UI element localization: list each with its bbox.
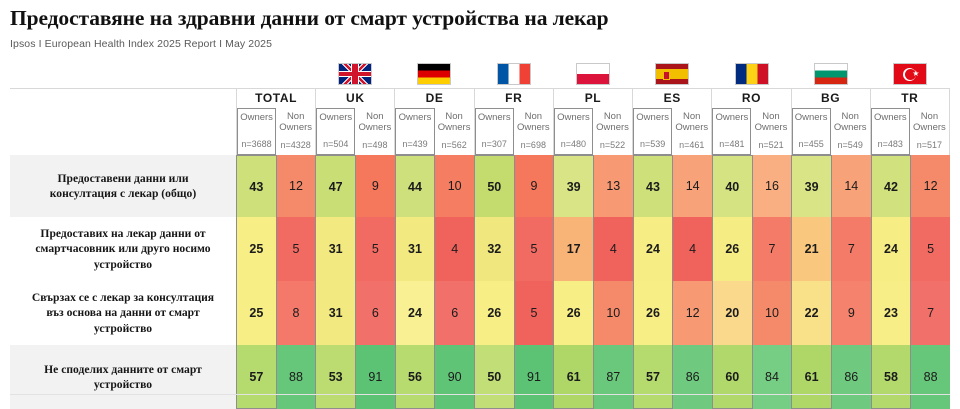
cell-value: 7 — [832, 217, 871, 281]
table-bottom-divider — [10, 394, 950, 395]
country-code-label: ES — [633, 89, 711, 108]
subheader-box: Ownersn=455 — [792, 108, 831, 155]
sample-size-label: n=4328 — [281, 140, 311, 151]
table-cell-owners: 39 — [553, 155, 594, 217]
table-cell-owners: 32 — [474, 217, 515, 281]
table-cell-owners: 17 — [553, 217, 594, 281]
cell-value: 5 — [911, 217, 950, 281]
cell-value: 91 — [356, 345, 395, 409]
cell-value: 86 — [832, 345, 871, 409]
table-cell-owners: 24 — [633, 217, 674, 281]
data-row-3: Свързах се с лекар за консултация въз ос… — [10, 281, 950, 345]
data-col-fr: 509 — [474, 155, 553, 217]
table-cell-non-owners: 12 — [277, 155, 316, 217]
sample-size-label: n=562 — [441, 140, 466, 151]
cell-value: 13 — [594, 155, 633, 217]
data-col-es: 5786 — [633, 345, 712, 409]
cell-value: 39 — [554, 156, 593, 217]
sample-size-label: n=483 — [878, 139, 903, 150]
non-owners-label: Non Owners — [596, 111, 629, 133]
table-cell-non-owners: 14 — [673, 155, 712, 217]
data-col-tr: 4212 — [871, 155, 950, 217]
table-cell-non-owners: 8 — [277, 281, 316, 345]
subheader-box: Non Ownersn=698 — [514, 108, 553, 155]
subheader-col-pl: Ownersn=480Non Ownersn=522 — [553, 108, 632, 155]
table-cell-non-owners: 7 — [753, 217, 792, 281]
table-cell-non-owners: 7 — [832, 217, 871, 281]
table-cell-non-owners: 9 — [515, 155, 554, 217]
subheader-col-es: Ownersn=539Non Ownersn=461 — [632, 108, 711, 155]
tr-flag: ★ — [893, 63, 927, 85]
owners-label: Owners — [636, 112, 669, 123]
flag-wrapper — [633, 58, 712, 88]
subheader-half-owners: Ownersn=483 — [871, 108, 910, 155]
ownership-subheader-cells: Ownersn=3688Non Ownersn=4328Ownersn=504N… — [236, 108, 950, 155]
sample-size-label: n=307 — [482, 139, 507, 150]
data-col-ro: 6084 — [712, 345, 791, 409]
table-cell-non-owners: 12 — [911, 155, 950, 217]
country-code-col-es: ES — [632, 89, 711, 108]
subheader-half-owners: Ownersn=539 — [633, 108, 672, 155]
subheader-half-non-owners: Non Ownersn=562 — [435, 108, 474, 155]
table-cell-non-owners: 9 — [832, 281, 871, 345]
table-cell-non-owners: 86 — [832, 345, 871, 409]
owners-label: Owners — [319, 112, 352, 123]
cell-value: 61 — [554, 345, 593, 408]
subheader-col-fr: Ownersn=307Non Ownersn=698 — [474, 108, 553, 155]
cell-value: 12 — [673, 281, 712, 345]
cell-value: 90 — [435, 345, 474, 409]
table-cell-owners: 60 — [712, 345, 753, 409]
table-cell-non-owners: 4 — [594, 217, 633, 281]
country-code-label: TR — [871, 89, 949, 108]
sample-size-label: n=549 — [838, 140, 863, 151]
table-cell-non-owners: 84 — [753, 345, 792, 409]
cell-value: 44 — [396, 156, 435, 217]
subheader-box: Ownersn=480 — [554, 108, 593, 155]
country-code-col-total: TOTAL — [236, 89, 315, 108]
table-cell-owners: 31 — [315, 217, 356, 281]
subheader-box: Non Ownersn=549 — [831, 108, 870, 155]
data-col-de: 314 — [395, 217, 474, 281]
cell-value: 12 — [277, 155, 316, 217]
subheader-box: Ownersn=539 — [633, 108, 672, 155]
country-code-label: DE — [395, 89, 473, 108]
owners-label: Owners — [795, 112, 828, 123]
row-label-4: Не споделих данните от смарт устройство — [10, 345, 236, 409]
table-cell-non-owners: 9 — [356, 155, 395, 217]
data-cells-row-2: 255315314325174244267217245 — [236, 217, 950, 281]
table-cell-owners: 25 — [236, 281, 277, 345]
row-label-3: Свързах се с лекар за консултация въз ос… — [10, 281, 236, 345]
cell-value: 42 — [872, 156, 911, 217]
ownership-subheader-row: Ownersn=3688Non Ownersn=4328Ownersn=504N… — [10, 108, 950, 155]
cell-value: 6 — [356, 281, 395, 345]
cell-value: 57 — [237, 345, 276, 408]
flag-col-ro — [712, 58, 791, 88]
owners-label: Owners — [399, 112, 432, 123]
cell-value: 4 — [673, 217, 712, 281]
cell-value: 17 — [554, 217, 593, 281]
cell-value: 24 — [634, 217, 673, 281]
sample-size-label: n=455 — [798, 139, 823, 150]
table-cell-owners: 61 — [791, 345, 832, 409]
data-col-ro: 267 — [712, 217, 791, 281]
flag-row: ★ — [10, 58, 950, 88]
cell-value: 84 — [753, 345, 792, 409]
subheader-box: Ownersn=481 — [712, 108, 751, 155]
subheader-box: Non Ownersn=562 — [435, 108, 474, 155]
data-col-fr: 265 — [474, 281, 553, 345]
sample-size-label: n=461 — [679, 140, 704, 151]
table-cell-owners: 50 — [474, 345, 515, 409]
subheader-half-non-owners: Non Ownersn=522 — [593, 108, 632, 155]
cell-value: 26 — [554, 281, 593, 345]
data-col-bg: 217 — [791, 217, 870, 281]
subheader-col-ro: Ownersn=481Non Ownersn=521 — [711, 108, 790, 155]
non-owners-label: Non Owners — [755, 111, 788, 133]
table-cell-owners: 26 — [474, 281, 515, 345]
subheader-col-bg: Ownersn=455Non Ownersn=549 — [791, 108, 870, 155]
data-col-ro: 4016 — [712, 155, 791, 217]
cell-value: 7 — [753, 217, 792, 281]
subheader-half-non-owners: Non Ownersn=517 — [910, 108, 949, 155]
cell-value: 88 — [911, 345, 950, 409]
subheader-half-non-owners: Non Ownersn=4328 — [276, 108, 315, 155]
subheader-box: Ownersn=504 — [316, 108, 355, 155]
owners-label: Owners — [240, 112, 273, 123]
data-col-ro: 2010 — [712, 281, 791, 345]
cell-value: 31 — [316, 281, 355, 345]
page-subtitle: Ipsos I European Health Index 2025 Repor… — [10, 38, 272, 50]
cell-value: 87 — [594, 345, 633, 409]
sample-size-label: n=698 — [521, 140, 546, 151]
table-cell-non-owners: 14 — [832, 155, 871, 217]
subheader-box: Non Ownersn=517 — [910, 108, 949, 155]
cell-value: 7 — [911, 281, 950, 345]
bg-flag — [814, 63, 848, 85]
cell-value: 14 — [673, 155, 712, 217]
data-col-pl: 6187 — [553, 345, 632, 409]
cell-value: 31 — [396, 217, 435, 281]
data-col-pl: 2610 — [553, 281, 632, 345]
data-cells-row-3: 258316246265261026122010229237 — [236, 281, 950, 345]
table-cell-owners: 25 — [236, 217, 277, 281]
sample-size-label: n=521 — [758, 140, 783, 151]
owners-label: Owners — [478, 112, 511, 123]
country-code-label: UK — [316, 89, 394, 108]
data-col-es: 2612 — [633, 281, 712, 345]
sample-size-label: n=522 — [600, 140, 625, 151]
cell-value: 22 — [792, 281, 831, 345]
country-code-col-tr: TR — [870, 89, 950, 108]
cell-value: 25 — [237, 217, 276, 281]
cell-value: 24 — [872, 217, 911, 281]
subheader-col-uk: Ownersn=504Non Ownersn=498 — [315, 108, 394, 155]
data-col-de: 5690 — [395, 345, 474, 409]
table-cell-owners: 44 — [395, 155, 436, 217]
flag-col-fr — [474, 58, 553, 88]
table-cell-owners: 24 — [395, 281, 436, 345]
country-code-col-pl: PL — [553, 89, 632, 108]
cell-value: 50 — [475, 345, 514, 408]
flag-cells: ★ — [236, 58, 950, 88]
data-cells-row-1: 4312479441050939134314401639144212 — [236, 155, 950, 217]
subheader-box: Non Ownersn=4328 — [276, 108, 315, 155]
cell-value: 24 — [396, 281, 435, 345]
owners-label: Owners — [716, 112, 749, 123]
page-title: Предоставяне на здравни данни от смарт у… — [10, 6, 609, 31]
cell-value: 43 — [237, 156, 276, 217]
non-owners-label: Non Owners — [834, 111, 867, 133]
table-cell-owners: 53 — [315, 345, 356, 409]
data-col-bg: 3914 — [791, 155, 870, 217]
table-cell-non-owners: 10 — [753, 281, 792, 345]
data-col-uk: 479 — [315, 155, 394, 217]
table-cell-non-owners: 88 — [277, 345, 316, 409]
cell-value: 40 — [713, 156, 752, 217]
flag-wrapper: ★ — [871, 58, 950, 88]
subheader-col-de: Ownersn=439Non Ownersn=562 — [394, 108, 473, 155]
cell-value: 25 — [237, 281, 276, 345]
data-cells-row-4: 578853915690509161875786608461865888 — [236, 345, 950, 409]
fr-flag — [497, 63, 531, 85]
country-code-col-de: DE — [394, 89, 473, 108]
country-code-label: TOTAL — [237, 89, 315, 108]
cell-value: 50 — [475, 156, 514, 217]
data-col-fr: 5091 — [474, 345, 553, 409]
cell-value: 9 — [515, 155, 554, 217]
cell-value: 4 — [435, 217, 474, 281]
cell-value: 32 — [475, 217, 514, 281]
uk-flag — [338, 63, 372, 85]
flag-col-pl — [553, 58, 632, 88]
non-owners-label: Non Owners — [675, 111, 708, 133]
table-cell-owners: 42 — [871, 155, 912, 217]
cell-value: 26 — [634, 281, 673, 345]
sample-size-label: n=539 — [640, 139, 665, 150]
table-cell-non-owners: 91 — [356, 345, 395, 409]
table-cell-non-owners: 90 — [435, 345, 474, 409]
subheader-half-owners: Ownersn=504 — [316, 108, 355, 155]
subheader-box: Non Ownersn=461 — [672, 108, 711, 155]
table-cell-owners: 39 — [791, 155, 832, 217]
cell-value: 53 — [316, 345, 355, 408]
cell-value: 88 — [277, 345, 316, 409]
data-col-total: 258 — [236, 281, 315, 345]
table-cell-owners: 24 — [871, 217, 912, 281]
table-cell-owners: 57 — [633, 345, 674, 409]
table-cell-owners: 20 — [712, 281, 753, 345]
cell-value: 6 — [435, 281, 474, 345]
subheader-box: Non Ownersn=521 — [751, 108, 790, 155]
flag-col-es — [633, 58, 712, 88]
data-col-total: 255 — [236, 217, 315, 281]
table-cell-owners: 61 — [553, 345, 594, 409]
table-cell-owners: 56 — [395, 345, 436, 409]
sample-size-label: n=504 — [323, 139, 348, 150]
table-cell-non-owners: 5 — [515, 217, 554, 281]
cell-value: 5 — [356, 217, 395, 281]
no-flag-placeholder — [259, 63, 293, 85]
table-cell-non-owners: 4 — [435, 217, 474, 281]
es-flag — [655, 63, 689, 85]
flag-col-bg — [791, 58, 870, 88]
table-cell-non-owners: 16 — [753, 155, 792, 217]
subheader-half-owners: Ownersn=455 — [792, 108, 831, 155]
cell-value: 12 — [911, 155, 950, 217]
cell-value: 21 — [792, 217, 831, 281]
subheader-half-non-owners: Non Ownersn=549 — [831, 108, 870, 155]
cell-value: 56 — [396, 345, 435, 408]
table-cell-non-owners: 4 — [673, 217, 712, 281]
cell-value: 86 — [673, 345, 712, 409]
data-col-tr: 5888 — [871, 345, 950, 409]
data-col-uk: 316 — [315, 281, 394, 345]
data-col-es: 244 — [633, 217, 712, 281]
table-cell-owners: 31 — [315, 281, 356, 345]
country-code-row: TOTALUKDEFRPLESROBGTR — [10, 88, 950, 108]
subheader-col-total: Ownersn=3688Non Ownersn=4328 — [236, 108, 315, 155]
table-cell-non-owners: 7 — [911, 281, 950, 345]
flag-col-total — [236, 58, 315, 88]
country-code-col-uk: UK — [315, 89, 394, 108]
cell-value: 39 — [792, 156, 831, 217]
country-code-col-fr: FR — [474, 89, 553, 108]
subheader-box: Ownersn=3688 — [237, 108, 276, 155]
table-cell-non-owners: 5 — [356, 217, 395, 281]
non-owners-label: Non Owners — [279, 111, 312, 133]
cell-value: 60 — [713, 345, 752, 408]
subheader-box: Ownersn=483 — [871, 108, 910, 155]
table-cell-owners: 23 — [871, 281, 912, 345]
subheader-half-non-owners: Non Ownersn=521 — [751, 108, 790, 155]
table-cell-owners: 43 — [633, 155, 674, 217]
data-col-es: 4314 — [633, 155, 712, 217]
table-cell-non-owners: 10 — [594, 281, 633, 345]
data-row-4: Не споделих данните от смарт устройство … — [10, 345, 950, 409]
subheader-box: Non Ownersn=522 — [593, 108, 632, 155]
subheader-half-non-owners: Non Ownersn=698 — [514, 108, 553, 155]
cell-value: 8 — [277, 281, 316, 345]
table-cell-owners: 43 — [236, 155, 277, 217]
subheader-half-owners: Ownersn=480 — [554, 108, 593, 155]
flag-wrapper — [791, 58, 870, 88]
table-cell-non-owners: 87 — [594, 345, 633, 409]
country-code-label: BG — [792, 89, 870, 108]
table-cell-non-owners: 88 — [911, 345, 950, 409]
row-label-1: Предоставени данни или консултация с лек… — [10, 155, 236, 217]
flag-wrapper — [553, 58, 632, 88]
country-code-cells: TOTALUKDEFRPLESROBGTR — [236, 89, 950, 108]
subheader-row-spacer — [10, 108, 236, 155]
cell-value: 91 — [515, 345, 554, 409]
table-cell-non-owners: 13 — [594, 155, 633, 217]
flag-row-spacer — [10, 58, 236, 88]
table-cell-owners: 26 — [712, 217, 753, 281]
table-cell-owners: 47 — [315, 155, 356, 217]
cell-value: 16 — [753, 155, 792, 217]
non-owners-label: Non Owners — [438, 111, 471, 133]
flag-wrapper — [236, 58, 315, 88]
cell-value: 9 — [356, 155, 395, 217]
code-row-spacer — [10, 89, 236, 108]
subheader-half-non-owners: Non Ownersn=461 — [672, 108, 711, 155]
cell-value: 20 — [713, 281, 752, 345]
table-cell-non-owners: 5 — [277, 217, 316, 281]
ro-flag — [735, 63, 769, 85]
country-code-label: PL — [554, 89, 632, 108]
cell-value: 9 — [832, 281, 871, 345]
subheader-box: Ownersn=439 — [395, 108, 434, 155]
flag-wrapper — [712, 58, 791, 88]
table-cell-owners: 58 — [871, 345, 912, 409]
table-cell-owners: 26 — [553, 281, 594, 345]
table-cell-owners: 50 — [474, 155, 515, 217]
data-row-1: Предоставени данни или консултация с лек… — [10, 155, 950, 217]
data-col-de: 4410 — [395, 155, 474, 217]
subheader-half-non-owners: Non Ownersn=498 — [355, 108, 394, 155]
cell-value: 61 — [792, 345, 831, 408]
data-col-pl: 174 — [553, 217, 632, 281]
table-cell-non-owners: 86 — [673, 345, 712, 409]
sample-size-label: n=481 — [719, 139, 744, 150]
cell-value: 23 — [872, 281, 911, 345]
owners-label: Owners — [874, 112, 907, 123]
cell-value: 26 — [475, 281, 514, 345]
data-col-uk: 5391 — [315, 345, 394, 409]
health-data-table: ★ TOTALUKDEFRPLESROBGTR Ownersn=3688Non … — [10, 58, 950, 394]
table-cell-owners: 21 — [791, 217, 832, 281]
data-col-pl: 3913 — [553, 155, 632, 217]
table-cell-owners: 57 — [236, 345, 277, 409]
cell-value: 43 — [634, 156, 673, 217]
data-col-bg: 229 — [791, 281, 870, 345]
data-col-uk: 315 — [315, 217, 394, 281]
subheader-box: Non Ownersn=498 — [355, 108, 394, 155]
subheader-half-owners: Ownersn=307 — [475, 108, 514, 155]
cell-value: 47 — [316, 156, 355, 217]
cell-value: 10 — [435, 155, 474, 217]
table-cell-non-owners: 6 — [435, 281, 474, 345]
data-col-de: 246 — [395, 281, 474, 345]
table-cell-owners: 22 — [791, 281, 832, 345]
sample-size-label: n=498 — [362, 140, 387, 151]
table-cell-owners: 26 — [633, 281, 674, 345]
flag-wrapper — [474, 58, 553, 88]
cell-value: 10 — [594, 281, 633, 345]
country-code-col-bg: BG — [791, 89, 870, 108]
sample-size-label: n=439 — [402, 139, 427, 150]
flag-col-de — [395, 58, 474, 88]
data-col-tr: 237 — [871, 281, 950, 345]
table-cell-non-owners: 10 — [435, 155, 474, 217]
subheader-box: Ownersn=307 — [475, 108, 514, 155]
pl-flag — [576, 63, 610, 85]
flag-col-tr: ★ — [871, 58, 950, 88]
cell-value: 57 — [634, 345, 673, 408]
cell-value: 4 — [594, 217, 633, 281]
country-code-label: FR — [475, 89, 553, 108]
owners-label: Owners — [557, 112, 590, 123]
country-code-label: RO — [712, 89, 790, 108]
data-col-bg: 6186 — [791, 345, 870, 409]
sample-size-label: n=480 — [561, 139, 586, 150]
subheader-half-owners: Ownersn=481 — [712, 108, 751, 155]
table-cell-non-owners: 12 — [673, 281, 712, 345]
row-label-2: Предоставих на лекар данни от смартчасов… — [10, 217, 236, 281]
data-col-total: 4312 — [236, 155, 315, 217]
